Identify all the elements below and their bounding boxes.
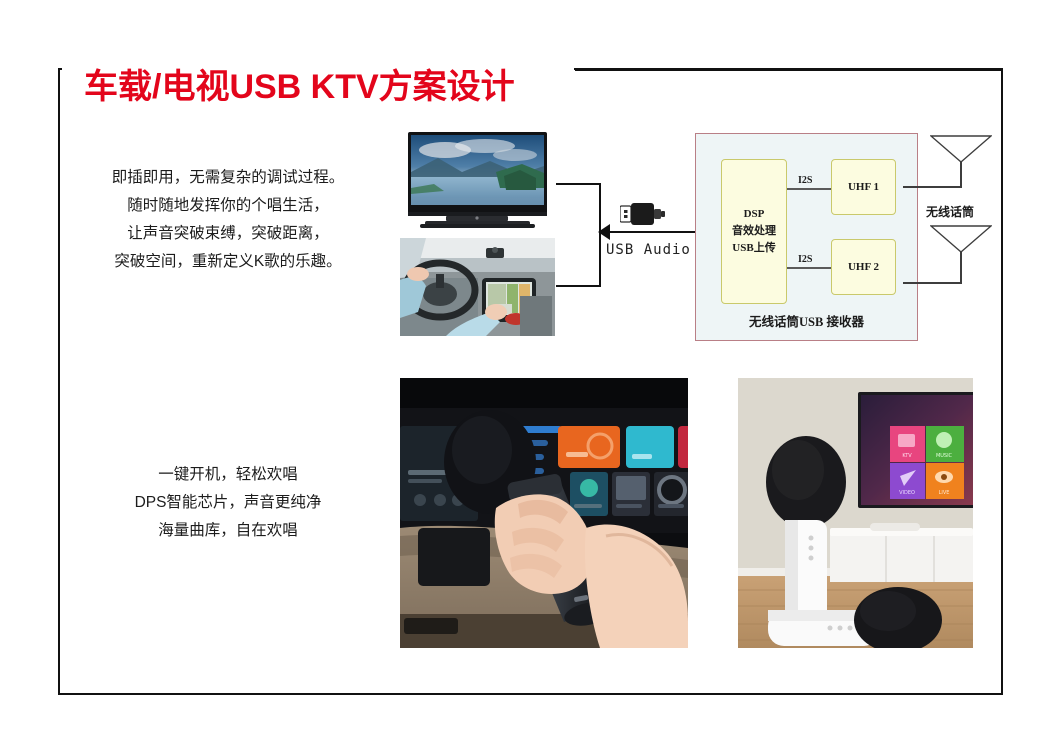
uhf1-block: UHF 1 bbox=[831, 159, 896, 215]
feature-text-block: 一键开机，轻松欢唱 DPS智能芯片，声音更纯净 海量曲库，自在欢唱 bbox=[78, 461, 378, 545]
svg-text:VIDEO: VIDEO bbox=[899, 490, 915, 496]
i2s-label-1: I2S bbox=[796, 175, 814, 186]
intro-text-block: 即插即用，无需复杂的调试过程。 随时随地发挥你的个唱生活， 让声音突破束缚，突破… bbox=[78, 164, 378, 276]
feature-line-1: 一键开机，轻松欢唱 bbox=[78, 461, 378, 489]
antenna-lead-1-horizontal bbox=[903, 186, 962, 188]
svg-text:LIVE: LIVE bbox=[939, 490, 950, 496]
dsp-label-2: 音效处理 bbox=[732, 223, 776, 240]
connector-line-car bbox=[556, 285, 601, 287]
feature-line-2: DPS智能芯片，声音更纯净 bbox=[78, 489, 378, 517]
dsp-label-1: DSP bbox=[744, 206, 765, 223]
mic-in-car-photo bbox=[400, 378, 688, 648]
mics-living-room-photo: KTV MUSIC VIDEO LIVE bbox=[738, 378, 973, 648]
title-rule bbox=[575, 68, 1003, 71]
svg-text:KTV: KTV bbox=[902, 453, 912, 459]
page-title: 车载/电视USB KTV方案设计 bbox=[84, 65, 521, 109]
uhf1-label: UHF 1 bbox=[848, 179, 879, 196]
arrow-head-icon bbox=[598, 224, 610, 240]
feature-line-3: 海量曲库，自在欢唱 bbox=[78, 517, 378, 545]
i2s-line-2 bbox=[787, 267, 831, 269]
receiver-block-diagram: DSP 音效处理 USB上传 I2S I2S UHF 1 UHF 2 无线话筒U… bbox=[695, 133, 918, 341]
i2s-label-2: I2S bbox=[796, 254, 814, 265]
connector-line-usb-audio bbox=[601, 231, 696, 233]
antenna-1-icon bbox=[930, 135, 992, 168]
antenna-lead-2-horizontal bbox=[903, 282, 962, 284]
uhf2-label: UHF 2 bbox=[848, 259, 879, 276]
diagram-caption: 无线话筒USB 接收器 bbox=[696, 311, 917, 330]
intro-line-3: 让声音突破束缚，突破距离， bbox=[78, 220, 378, 248]
i2s-line-1 bbox=[787, 188, 831, 190]
tv-photo bbox=[400, 128, 555, 232]
wireless-mic-label: 无线话筒 bbox=[926, 203, 974, 220]
dsp-block: DSP 音效处理 USB上传 bbox=[721, 159, 787, 304]
uhf2-block: UHF 2 bbox=[831, 239, 896, 295]
usb-plug-icon bbox=[620, 202, 666, 226]
intro-line-4: 突破空间，重新定义K歌的乐趣。 bbox=[78, 248, 378, 276]
svg-text:MUSIC: MUSIC bbox=[936, 453, 953, 459]
usb-audio-label: USB Audio bbox=[606, 242, 691, 258]
car-interior-photo bbox=[400, 238, 555, 336]
intro-line-2: 随时随地发挥你的个唱生活， bbox=[78, 192, 378, 220]
connector-line-tv bbox=[556, 183, 601, 185]
antenna-2-icon bbox=[930, 225, 992, 258]
intro-line-1: 即插即用，无需复杂的调试过程。 bbox=[78, 164, 378, 192]
dsp-label-3: USB上传 bbox=[732, 240, 775, 257]
